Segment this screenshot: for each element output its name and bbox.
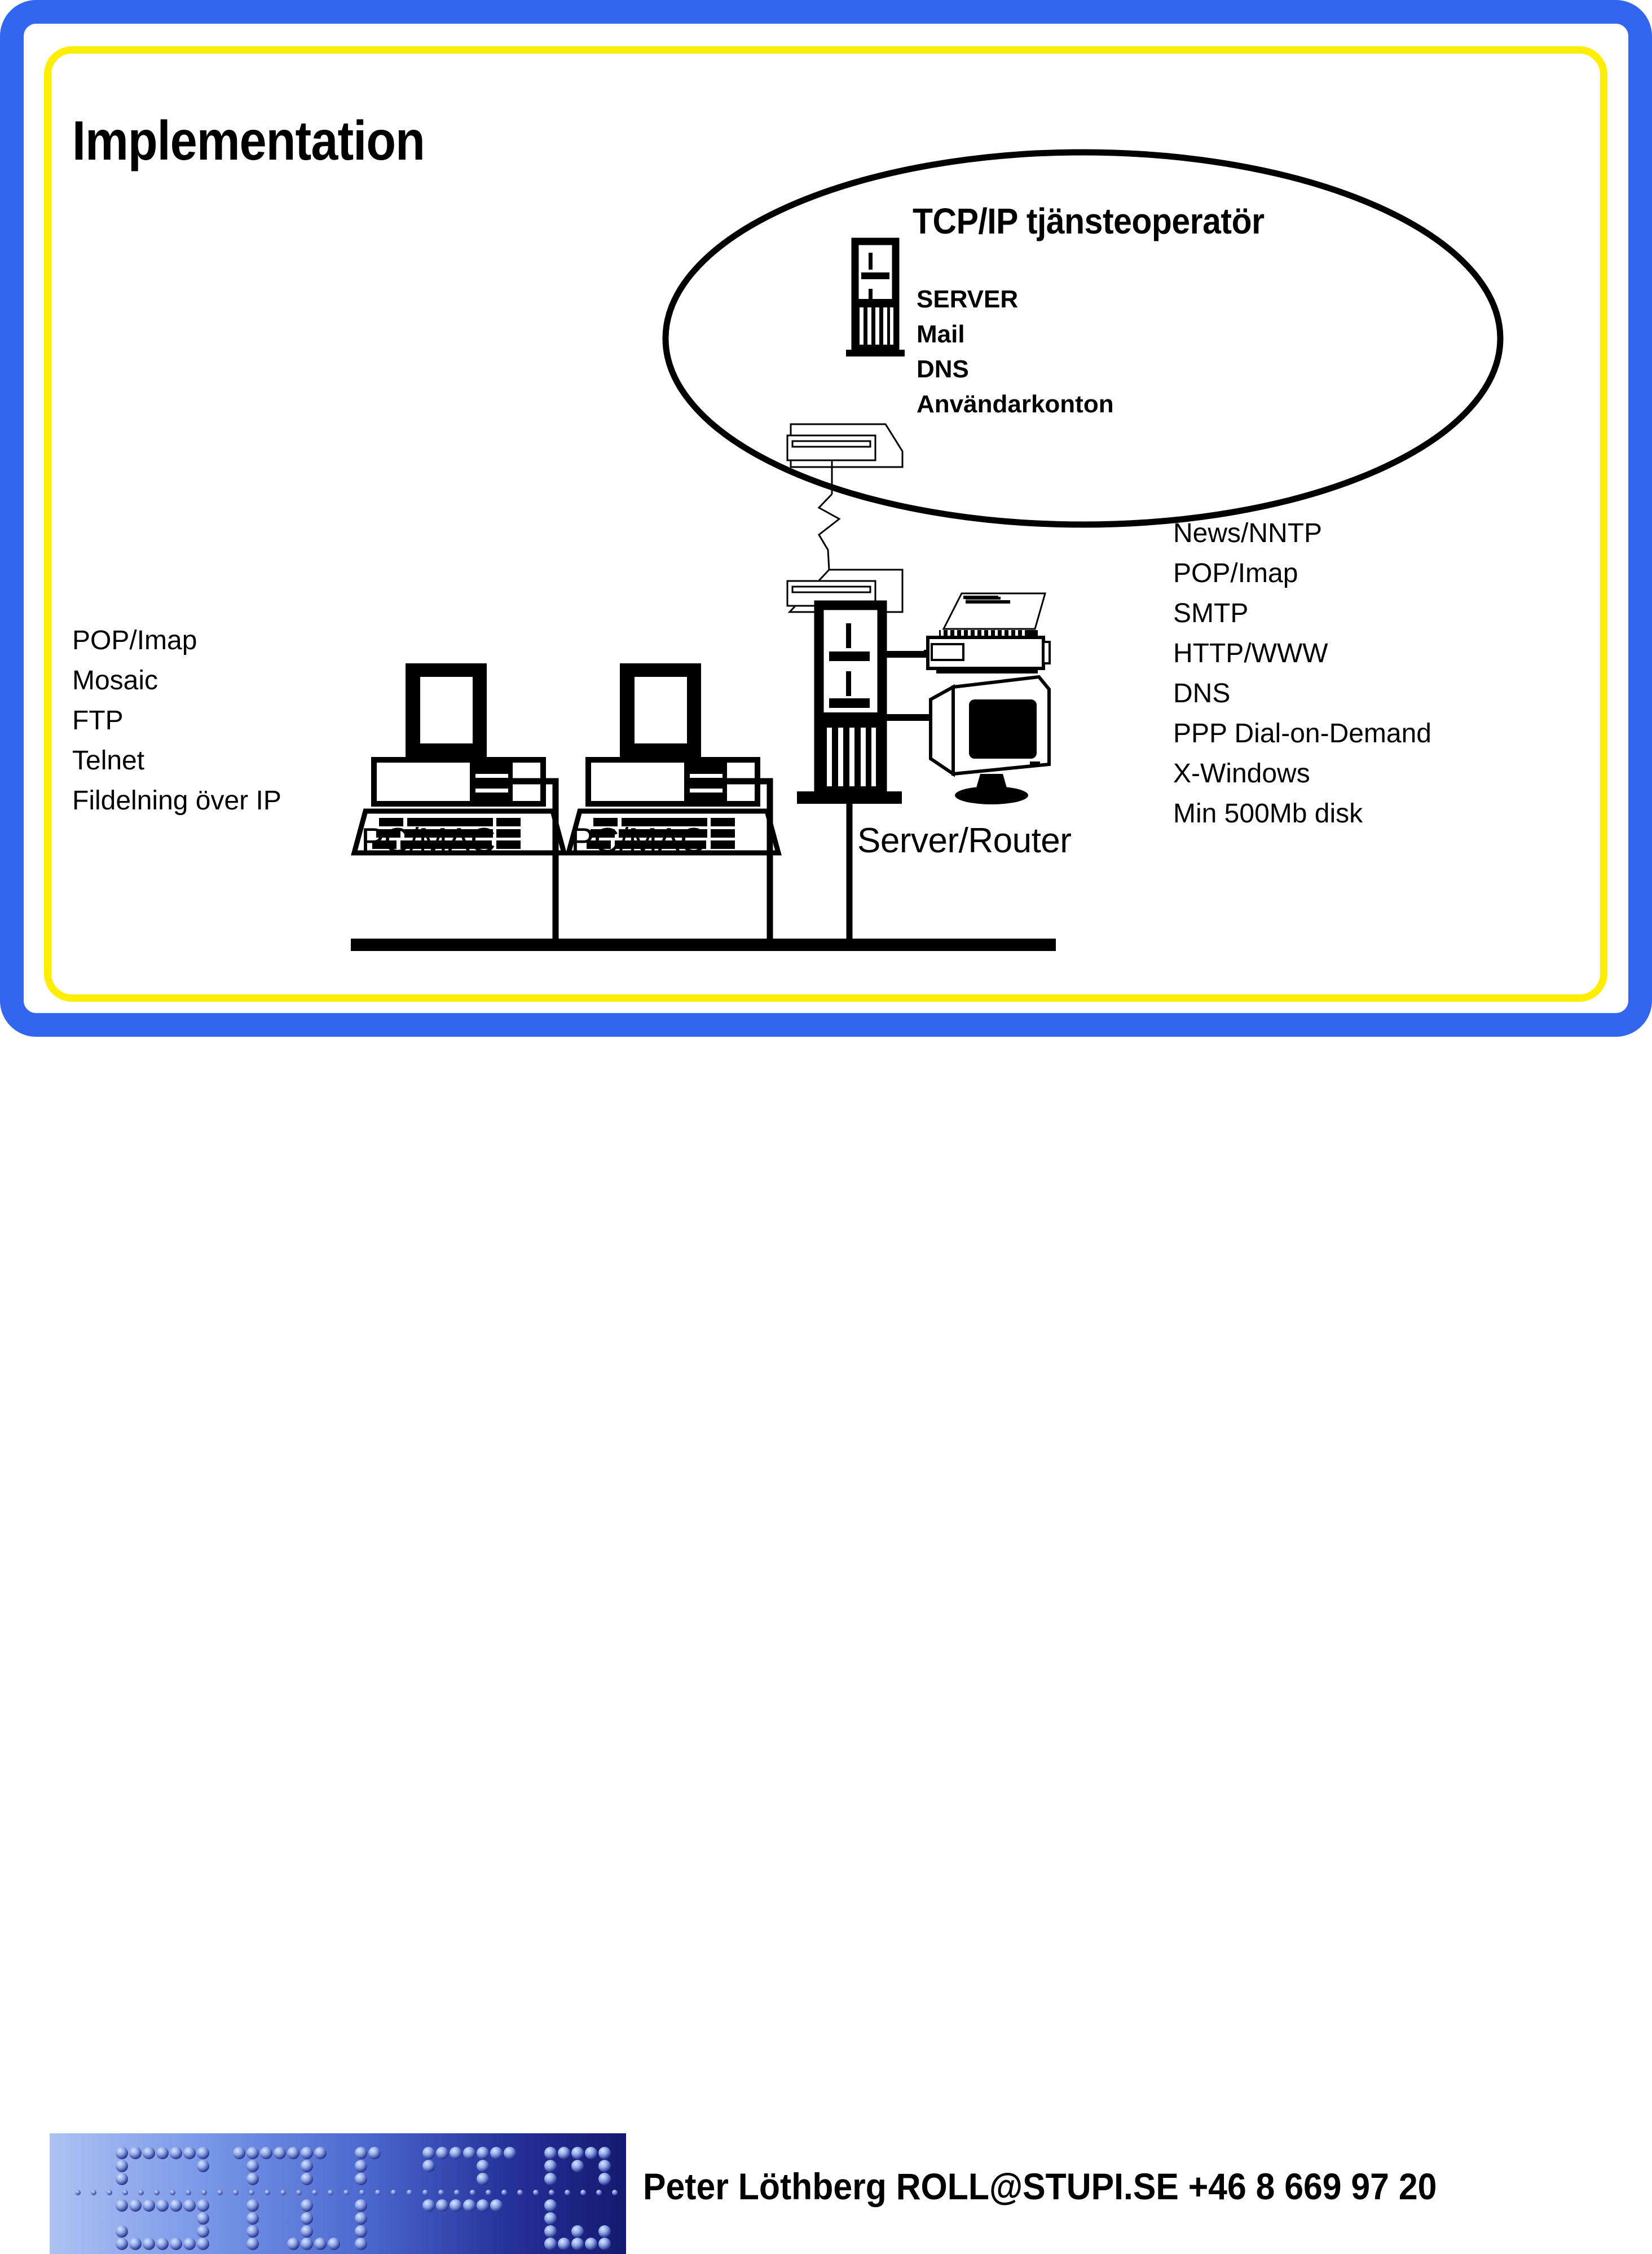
modem-top-icon — [787, 424, 902, 494]
left-service-item: Telnet — [72, 741, 281, 781]
right-service-item: POP/Imap — [1173, 553, 1431, 593]
right-service-item: News/NNTP — [1173, 513, 1431, 553]
printer-icon — [882, 593, 1050, 673]
workstation-monitor-icon — [882, 677, 1049, 804]
right-service-item: HTTP/WWW — [1173, 633, 1431, 673]
pc-mac-1-icon — [354, 663, 564, 943]
cloud-service-item: DNS — [917, 352, 1114, 387]
cloud-service-item: SERVER — [917, 282, 1114, 317]
server-router-rack-icon — [797, 605, 902, 804]
left-service-item: Fildelning över IP — [72, 781, 281, 821]
device-label-server-router: Server/Router — [857, 821, 1071, 861]
device-label-pc-mac-1: PC/MAC — [361, 821, 495, 861]
cloud-title: TCP/IP tjänsteoperatör — [913, 200, 1265, 242]
pc-mac-2-icon — [569, 663, 778, 943]
right-service-list: News/NNTP POP/Imap SMTP HTTP/WWW DNS PPP… — [1173, 513, 1431, 834]
cloud-service-item: Användarkonton — [917, 387, 1114, 422]
slide-footer: Peter Löthberg ROLL@STUPI.SE +46 8 669 9… — [0, 1037, 1652, 1222]
right-service-item: Min 500Mb disk — [1173, 794, 1431, 834]
right-service-item: X-Windows — [1173, 754, 1431, 794]
left-service-list: POP/Imap Mosaic FTP Telnet Fildelning öv… — [72, 620, 281, 821]
left-service-item: FTP — [72, 701, 281, 741]
leased-line-link — [819, 494, 839, 570]
footer-contact-line: Peter Löthberg ROLL@STUPI.SE +46 8 669 9… — [643, 2165, 1437, 2208]
left-service-item: POP/Imap — [72, 620, 281, 661]
cloud-server-service-list: SERVER Mail DNS Användarkonton — [917, 282, 1114, 422]
right-service-item: SMTP — [1173, 593, 1431, 633]
cloud-service-item: Mail — [917, 317, 1114, 352]
stupi-logo — [50, 2133, 626, 2254]
right-service-item: DNS — [1173, 673, 1431, 714]
device-label-pc-mac-2: PC/MAC — [571, 821, 705, 861]
cloud-server-rack-icon — [846, 241, 905, 356]
left-service-item: Mosaic — [72, 661, 281, 701]
right-service-item: PPP Dial-on-Demand — [1173, 714, 1431, 754]
